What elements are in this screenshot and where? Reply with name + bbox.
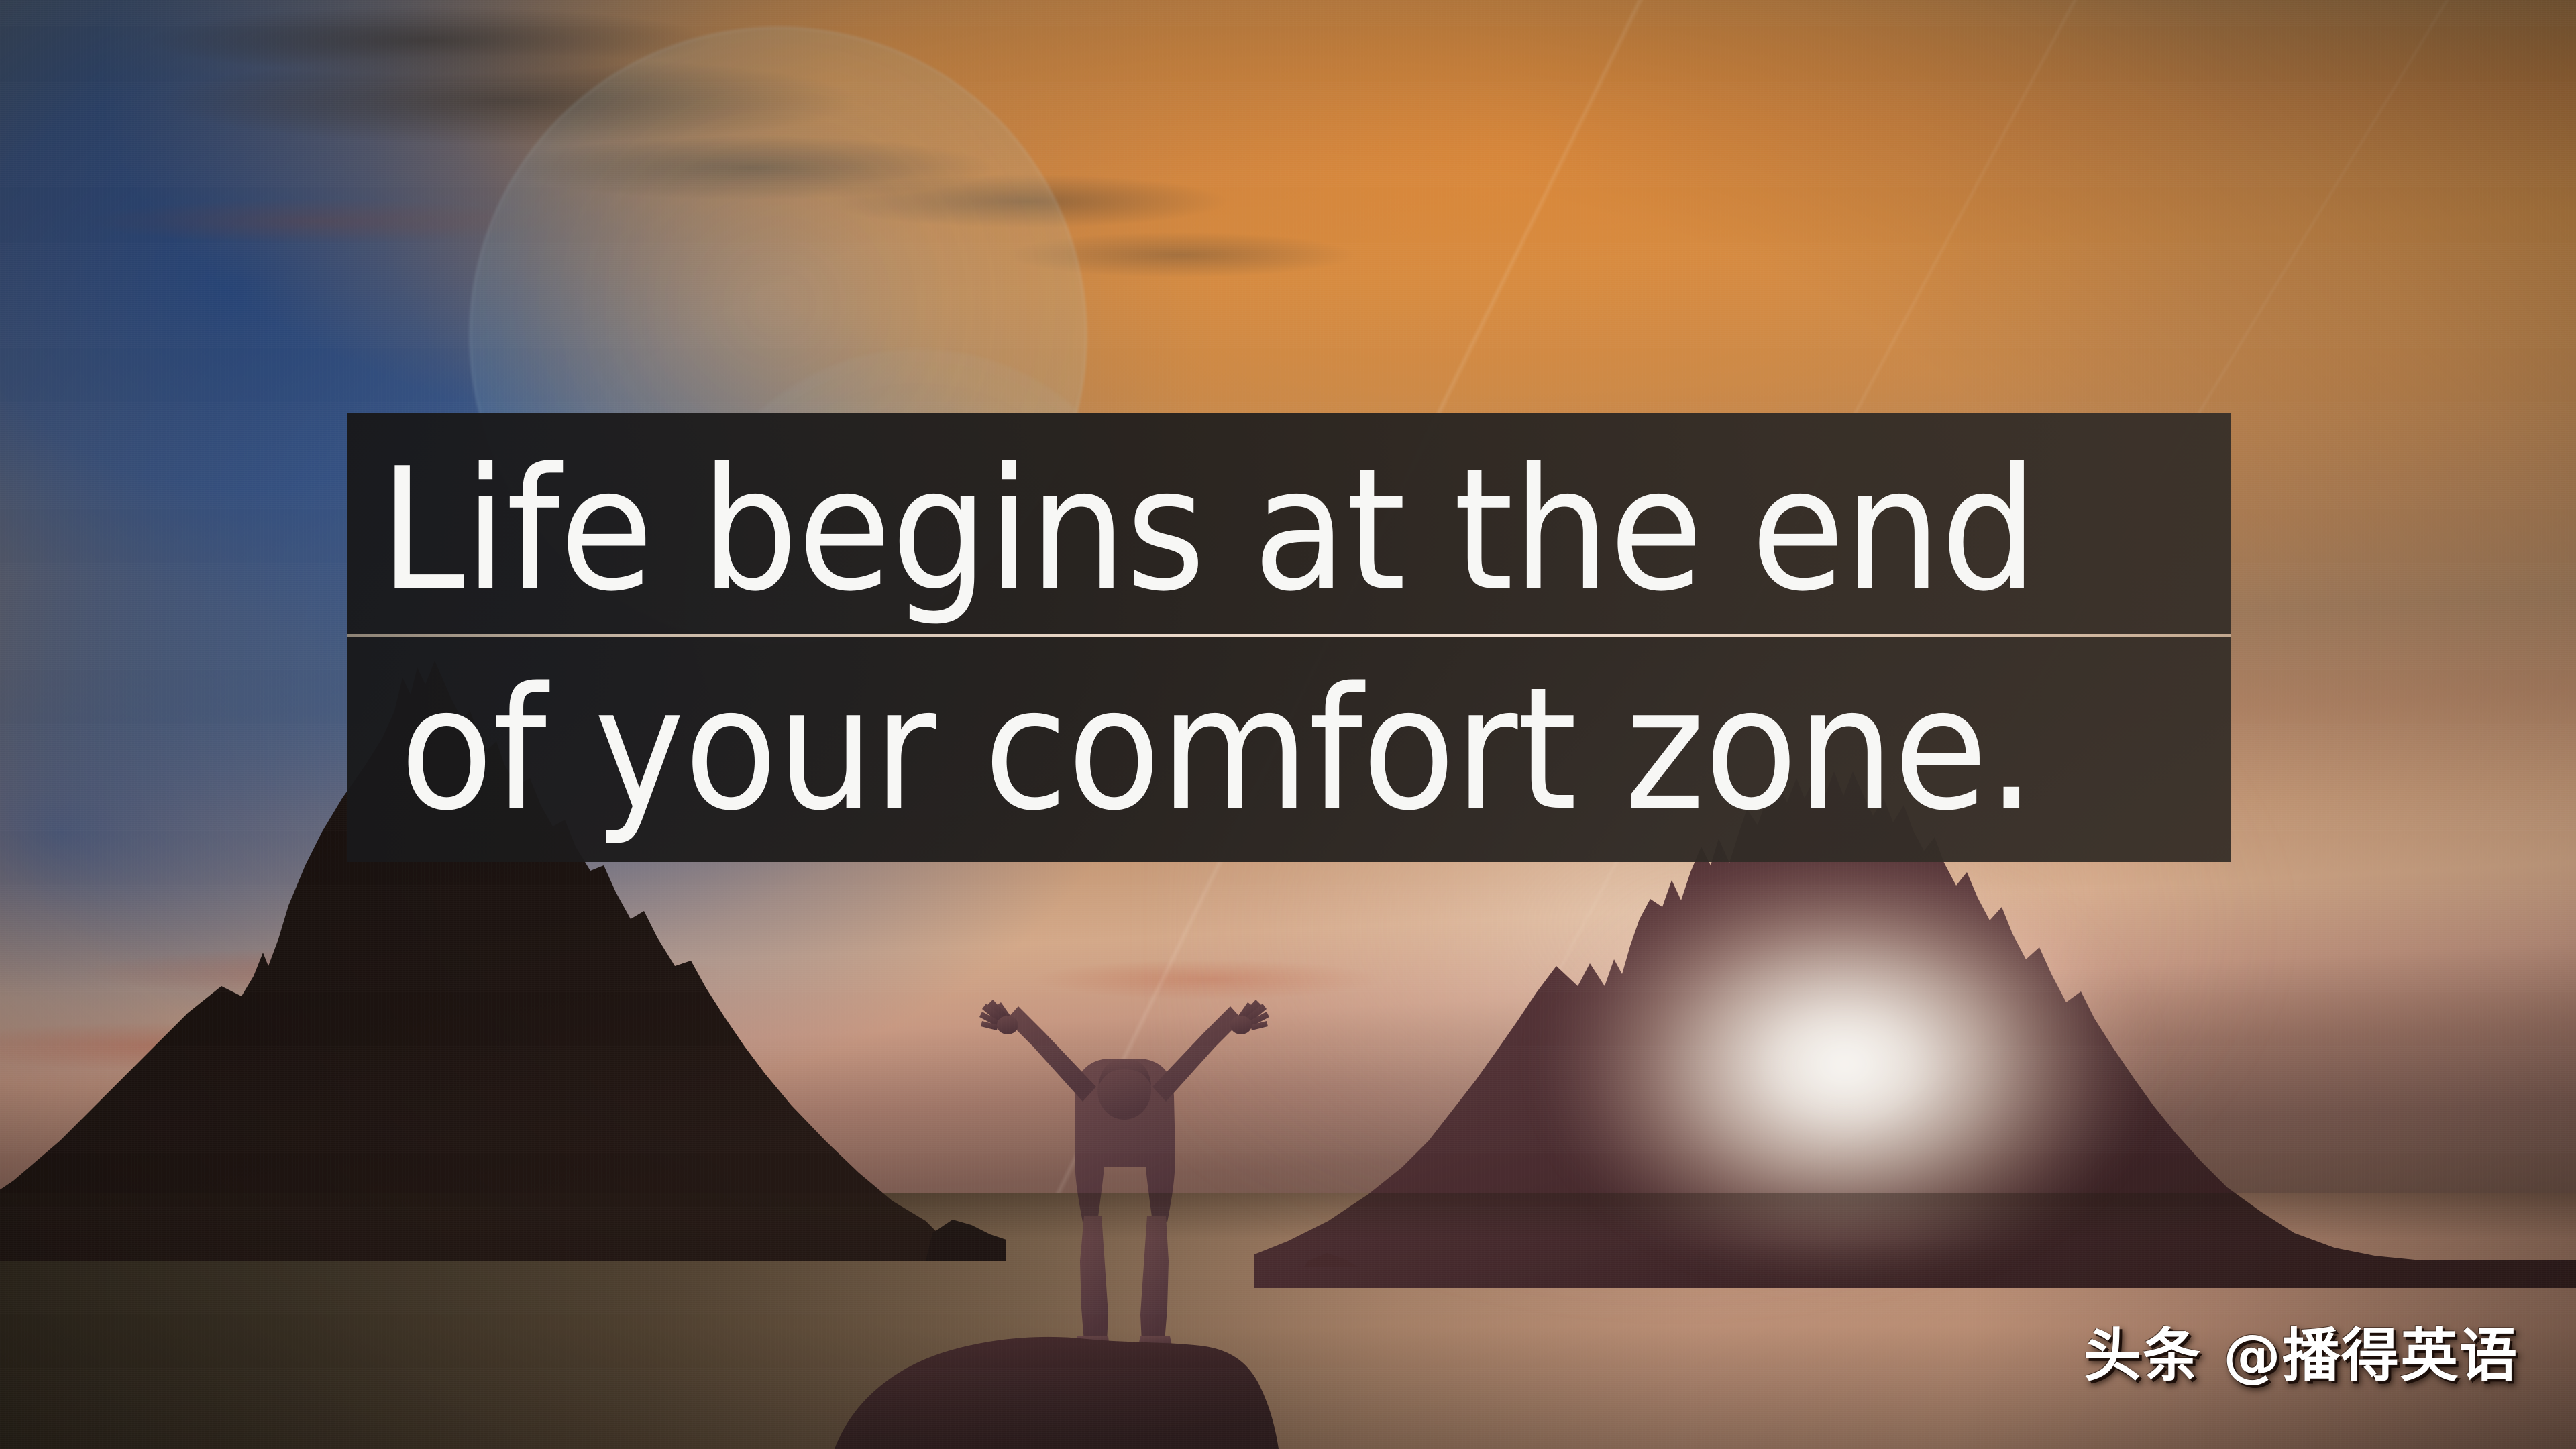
quote-panel: Life begins at the end of your comfort z…	[347, 413, 2231, 862]
quote-text-line-1: Life begins at the end	[380, 446, 2055, 615]
quote-bar-line-2: of your comfort zone.	[347, 637, 2231, 862]
person-silhouette	[979, 1000, 1269, 1348]
rock-silhouette	[835, 1337, 1279, 1449]
quote-text-line-2: of your comfort zone.	[400, 665, 2057, 835]
left-island-outcrop	[926, 1220, 1006, 1261]
watermark: 头条 @播得英语	[2084, 1327, 2518, 1385]
quote-image: Life begins at the end of your comfort z…	[0, 0, 2576, 1449]
quote-bar-line-1: Life begins at the end	[347, 413, 2231, 634]
